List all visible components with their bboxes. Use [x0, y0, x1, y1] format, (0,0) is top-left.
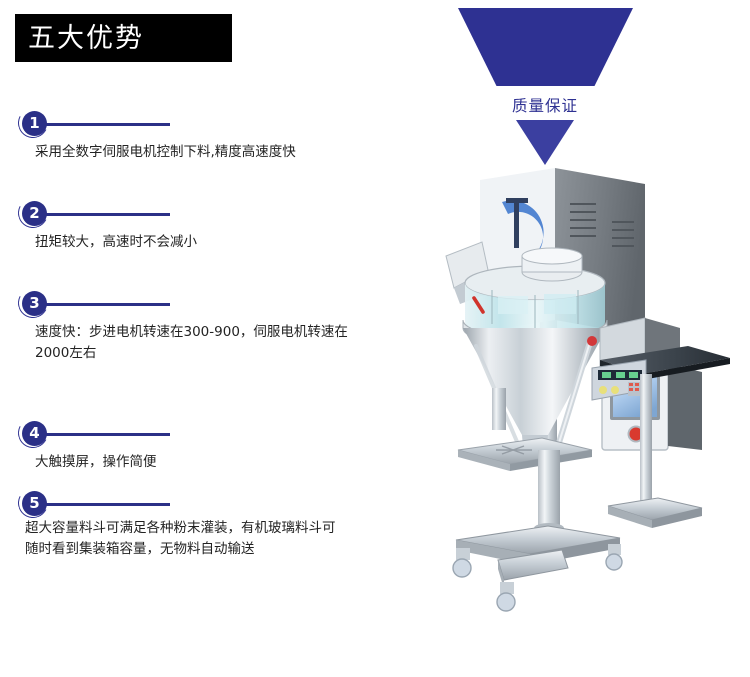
page-title: 五大优势 [15, 25, 144, 52]
badge-disc: 4 [22, 421, 47, 446]
feature-header-1: 1 [0, 110, 440, 140]
badge-number: 1 [29, 116, 39, 131]
number-badge-5: 5 [20, 490, 48, 518]
badge-disc: 5 [22, 491, 47, 516]
feature-header-4: 4 [0, 420, 440, 450]
feature-header-5: 5 [0, 490, 440, 520]
feature-rule-line [45, 433, 170, 436]
feature-rule-line [45, 213, 170, 216]
badge-number: 3 [29, 296, 39, 311]
badge-number: 4 [29, 426, 39, 441]
feature-item-2: 2 扭矩较大，高速时不会减小 [0, 200, 440, 230]
badge-number: 5 [29, 496, 39, 511]
feature-header-2: 2 [0, 200, 440, 230]
feature-text-4: 大触摸屏，操作简便 [35, 452, 430, 473]
quality-funnel-shape [458, 8, 633, 86]
feature-item-5: 5 超大容量料斗可满足各种粉末灌装，有机玻璃料斗可 随时看到集装箱容量，无物料自… [0, 490, 440, 520]
feature-item-3: 3 速度快：步进电机转速在300-900，伺服电机转速在 2000左右 [0, 290, 440, 320]
page-root: 五大优势 1 采用全数字伺服电机控制下料,精度高速度快 [0, 0, 750, 677]
number-badge-2: 2 [20, 200, 48, 228]
badge-disc: 1 [22, 111, 47, 136]
quality-funnel-label: 质量保证 [440, 94, 650, 116]
feature-text-2: 扭矩较大，高速时不会减小 [35, 232, 430, 253]
feature-rule-line [45, 503, 170, 506]
number-badge-4: 4 [20, 420, 48, 448]
product-photo-powder-filling-machine [440, 150, 750, 620]
number-badge-1: 1 [20, 110, 48, 138]
badge-disc: 2 [22, 201, 47, 226]
feature-text-1: 采用全数字伺服电机控制下料,精度高速度快 [35, 142, 430, 163]
feature-header-3: 3 [0, 290, 440, 320]
feature-item-1: 1 采用全数字伺服电机控制下料,精度高速度快 [0, 110, 440, 140]
number-badge-3: 3 [20, 290, 48, 318]
badge-number: 2 [29, 206, 39, 221]
product-column: 质量保证 [440, 0, 750, 677]
features-column: 五大优势 1 采用全数字伺服电机控制下料,精度高速度快 [0, 0, 440, 677]
feature-text-5: 超大容量料斗可满足各种粉末灌装，有机玻璃料斗可 随时看到集装箱容量，无物料自动输… [25, 518, 435, 560]
feature-item-4: 4 大触摸屏，操作简便 [0, 420, 440, 450]
badge-disc: 3 [22, 291, 47, 316]
feature-rule-line [45, 123, 170, 126]
feature-rule-line [45, 303, 170, 306]
machine-top-cap [522, 248, 582, 281]
cone-red-knob [587, 336, 597, 346]
section-title-banner: 五大优势 [15, 14, 232, 62]
feature-text-3: 速度快：步进电机转速在300-900，伺服电机转速在 2000左右 [35, 322, 430, 364]
